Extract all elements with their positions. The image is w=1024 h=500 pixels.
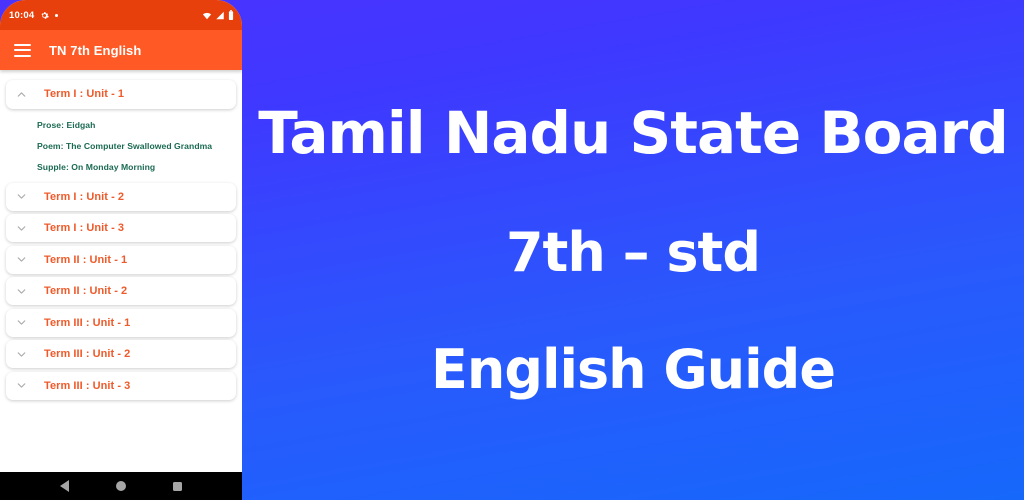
- promo-heading-line-1: Tamil Nadu State Board: [258, 99, 1008, 167]
- unit-label: Term III : Unit - 3: [44, 380, 130, 392]
- unit-label: Term II : Unit - 2: [44, 285, 127, 297]
- unit-card[interactable]: Term I : Unit - 2: [6, 183, 236, 211]
- sub-list-item[interactable]: Poem: The Computer Swallowed Grandma: [0, 135, 242, 156]
- chevron-down-icon[interactable]: [15, 222, 28, 235]
- app-bar: TN 7th English: [0, 30, 242, 70]
- unit-card[interactable]: Term III : Unit - 3: [6, 372, 236, 400]
- unit-label: Term I : Unit - 1: [44, 88, 124, 100]
- chevron-down-icon[interactable]: [15, 190, 28, 203]
- chevron-down-icon[interactable]: [15, 348, 28, 361]
- unit-card[interactable]: Term III : Unit - 2: [6, 340, 236, 368]
- unit-list[interactable]: Term I : Unit - 1Prose: EidgahPoem: The …: [0, 70, 242, 470]
- unit-card[interactable]: Term II : Unit - 1: [6, 246, 236, 274]
- sub-list-item[interactable]: Prose: Eidgah: [0, 114, 242, 135]
- home-circle-icon[interactable]: [116, 481, 126, 491]
- dot-icon: [55, 14, 58, 17]
- app-bar-title: TN 7th English: [49, 43, 141, 58]
- hamburger-menu-icon[interactable]: [14, 44, 31, 57]
- recents-square-icon[interactable]: [173, 482, 182, 491]
- status-bar-right: [202, 10, 234, 20]
- unit-label: Term II : Unit - 1: [44, 254, 127, 266]
- promo-heading-line-2: 7th – std: [506, 221, 760, 284]
- status-bar-clock: 10:04: [9, 10, 34, 21]
- wifi-icon: [202, 11, 212, 20]
- unit-label: Term I : Unit - 2: [44, 191, 124, 203]
- unit-label: Term III : Unit - 2: [44, 348, 130, 360]
- android-navigation-bar: [0, 472, 242, 500]
- unit-card[interactable]: Term I : Unit - 3: [6, 214, 236, 242]
- unit-card[interactable]: Term III : Unit - 1: [6, 309, 236, 337]
- promo-heading-line-3: English Guide: [431, 338, 835, 401]
- battery-icon: [228, 10, 234, 20]
- promo-panel: Tamil Nadu State Board 7th – std English…: [242, 0, 1024, 500]
- unit-card[interactable]: Term II : Unit - 2: [6, 277, 236, 305]
- unit-sublist: Prose: EidgahPoem: The Computer Swallowe…: [0, 112, 242, 179]
- chevron-down-icon[interactable]: [15, 253, 28, 266]
- signal-icon: [215, 11, 225, 20]
- back-triangle-icon[interactable]: [60, 480, 69, 492]
- phone-screenshot: 10:04: [0, 0, 242, 500]
- chevron-down-icon[interactable]: [15, 285, 28, 298]
- unit-label: Term I : Unit - 3: [44, 222, 124, 234]
- screenshot-root: 10:04: [0, 0, 1024, 500]
- chevron-down-icon[interactable]: [15, 316, 28, 329]
- chevron-down-icon[interactable]: [15, 379, 28, 392]
- status-bar-left: 10:04: [9, 10, 202, 21]
- gear-icon: [40, 11, 49, 20]
- unit-label: Term III : Unit - 1: [44, 317, 130, 329]
- status-bar: 10:04: [0, 0, 242, 30]
- chevron-up-icon[interactable]: [15, 88, 28, 101]
- sub-list-item[interactable]: Supple: On Monday Morning: [0, 156, 242, 177]
- unit-card[interactable]: Term I : Unit - 1: [6, 80, 236, 109]
